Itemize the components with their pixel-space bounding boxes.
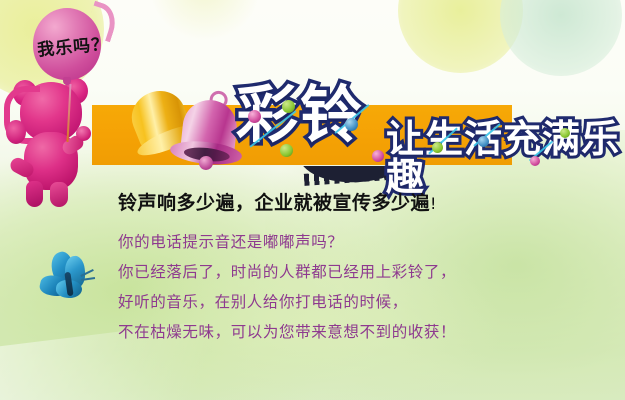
pink-bell-clapper: [198, 155, 213, 170]
decorative-ball-pink-1: [248, 110, 261, 123]
promo-headline-text: 铃声响多少遍，企业就被宣传多少遍: [118, 192, 430, 214]
promo-subtext-line-1: 你的电话提示音还是嘟嘟声吗？: [118, 227, 588, 257]
promo-copy-block: 铃声响多少遍，企业就被宣传多少遍! 你的电话提示音还是嘟嘟声吗？ 你已经落后了，…: [118, 192, 588, 348]
promo-headline: 铃声响多少遍，企业就被宣传多少遍!: [118, 192, 588, 216]
promo-subtext-line-3: 好听的音乐，在别人给你打电话的时候，: [118, 287, 588, 317]
promo-subtext-line-2: 你已经落后了，时尚的人群都已经用上彩铃了，: [118, 257, 588, 287]
decorative-ball-blue-1: [345, 118, 358, 131]
mascot-leg-right: [50, 182, 68, 207]
decorative-ball-pink-3: [530, 156, 540, 166]
butterfly-antenna-2: [81, 277, 95, 280]
decorative-ball-pink-2: [372, 150, 384, 162]
promo-subtext-list: 你的电话提示音还是嘟嘟声吗？ 你已经落后了，时尚的人群都已经用上彩铃了， 好听的…: [118, 227, 588, 348]
decorative-ball-green-4: [560, 128, 570, 138]
mascot-leg-left: [26, 181, 43, 207]
bells-graphic: [128, 82, 244, 182]
balloon-graphic: 我乐吗？: [33, 8, 105, 92]
mascot-hand: [76, 126, 91, 141]
decorative-ball-green-1: [282, 100, 295, 113]
decorative-ball-green-2: [280, 144, 293, 157]
promo-headline-mark: !: [430, 194, 437, 213]
title-subtitle: 让生活充满乐趣: [386, 120, 625, 196]
decorative-ball-blue-2: [478, 136, 489, 147]
mascot-headphone-cup: [6, 120, 26, 144]
decorative-ball-green-3: [432, 142, 443, 153]
ringtone-promo-banner: 我乐吗？ 彩铃 让生活充满乐趣: [0, 0, 625, 400]
promo-subtext-line-4: 不在枯燥无味，可以为您带来意想不到的收获！: [118, 317, 588, 347]
butterfly-icon: [32, 250, 104, 312]
mascot-character: [2, 76, 106, 208]
